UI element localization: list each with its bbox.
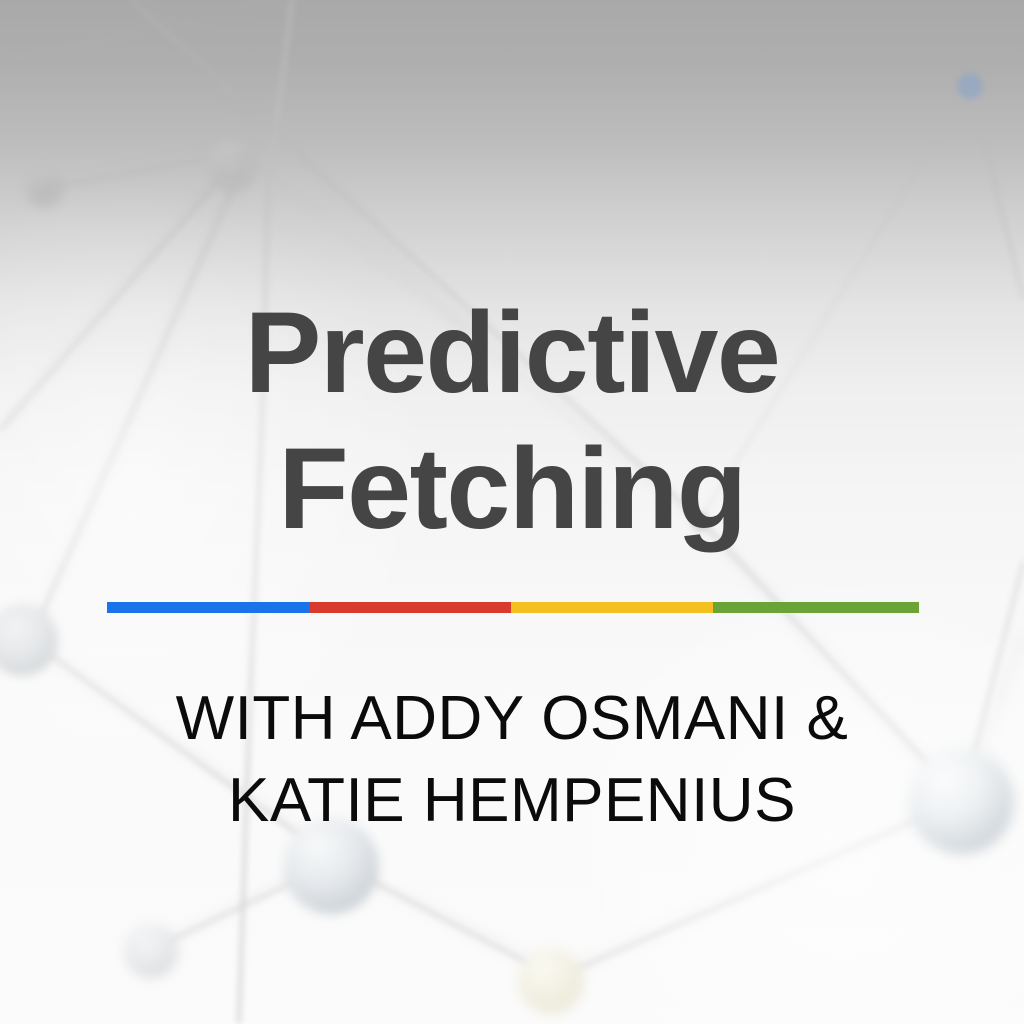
rule-segment-green bbox=[713, 602, 919, 613]
subtitle-line-2: KATIE HEMPENIUS bbox=[0, 760, 1024, 842]
rule-segment-yellow bbox=[511, 602, 713, 613]
title-line-2: Fetching bbox=[0, 422, 1024, 558]
rule-segment-blue bbox=[107, 602, 309, 613]
google-brand-rule bbox=[107, 602, 919, 613]
page-title: Predictive Fetching bbox=[0, 286, 1024, 557]
title-line-1: Predictive bbox=[0, 286, 1024, 422]
slide-content: Predictive Fetching WITH ADDY OSMANI & K… bbox=[0, 0, 1024, 1024]
presenters-subtitle: WITH ADDY OSMANI & KATIE HEMPENIUS bbox=[0, 678, 1024, 842]
subtitle-line-1: WITH ADDY OSMANI & bbox=[0, 678, 1024, 760]
rule-segment-red bbox=[309, 602, 511, 613]
title-slide: Predictive Fetching WITH ADDY OSMANI & K… bbox=[0, 0, 1024, 1024]
